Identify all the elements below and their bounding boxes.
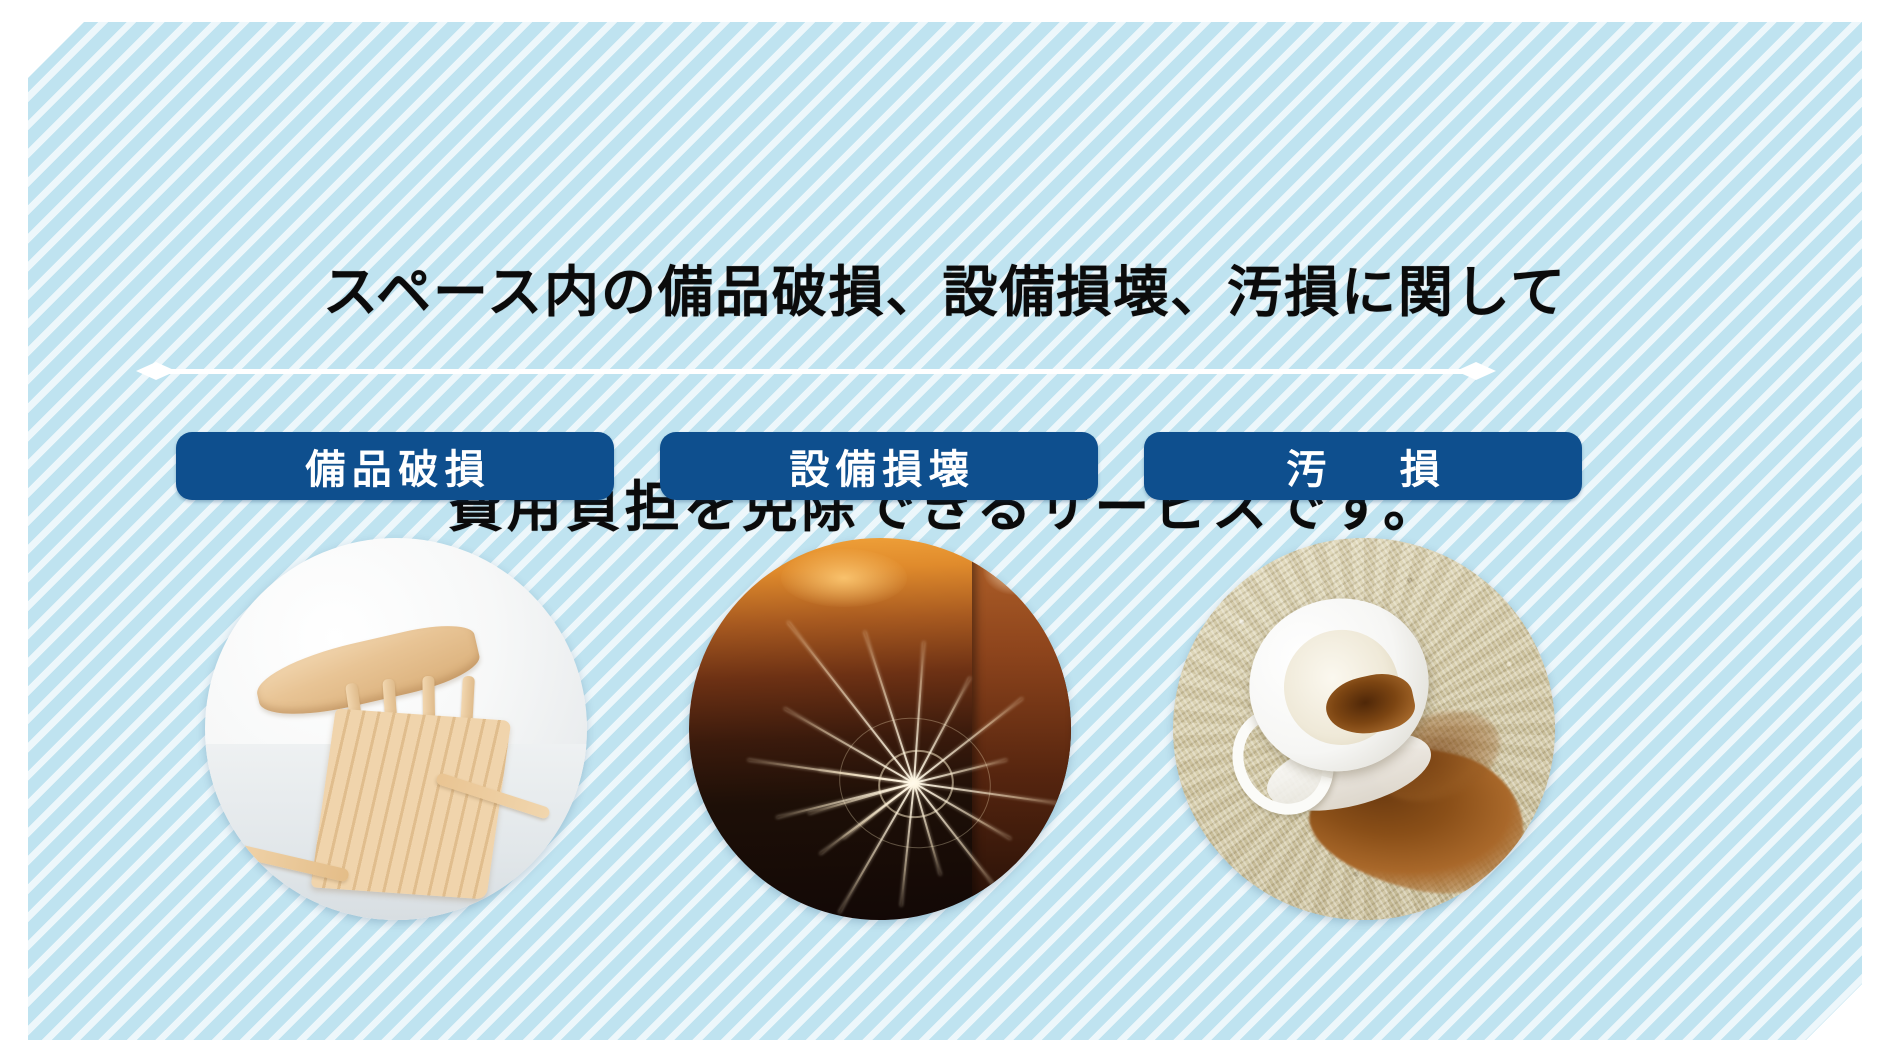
cracked-glass-photo: ひび割れたガラス	[689, 538, 1071, 920]
headline-line-1: スペース内の備品破損、設備損壊、汚損に関して	[28, 257, 1862, 329]
glass-highlight	[983, 546, 1048, 596]
divider-bar	[158, 369, 1474, 374]
photo-alt-text: 壊れた木製の椅子	[205, 538, 206, 539]
badge-equipment-damage: 備品破損	[176, 432, 614, 500]
glass-highlight	[781, 549, 907, 606]
badge-staining: 汚 損	[1144, 432, 1582, 500]
info-panel: スペース内の備品破損、設備損壊、汚損に関して 費用負担を免除できるサービスです。…	[28, 22, 1862, 1040]
photo-alt-text: ひび割れたガラス	[689, 538, 690, 539]
badge-facility-destruction: 設備損壊	[660, 432, 1098, 500]
card-staining: 汚 損 カーペットにこぼれたコーヒー	[1144, 432, 1584, 920]
card-equipment-damage: 備品破損 壊れた木製の椅子	[176, 432, 616, 920]
decorative-divider	[136, 362, 1496, 380]
diamond-marker-right-icon	[1456, 362, 1496, 380]
card-facility-destruction: 設備損壊 ひび割れたガラス	[660, 432, 1100, 920]
broken-wooden-chair-photo: 壊れた木製の椅子	[205, 538, 587, 920]
coffee-spill-carpet-photo: カーペットにこぼれたコーヒー	[1173, 538, 1555, 920]
glass-wood-frame	[972, 538, 1071, 920]
